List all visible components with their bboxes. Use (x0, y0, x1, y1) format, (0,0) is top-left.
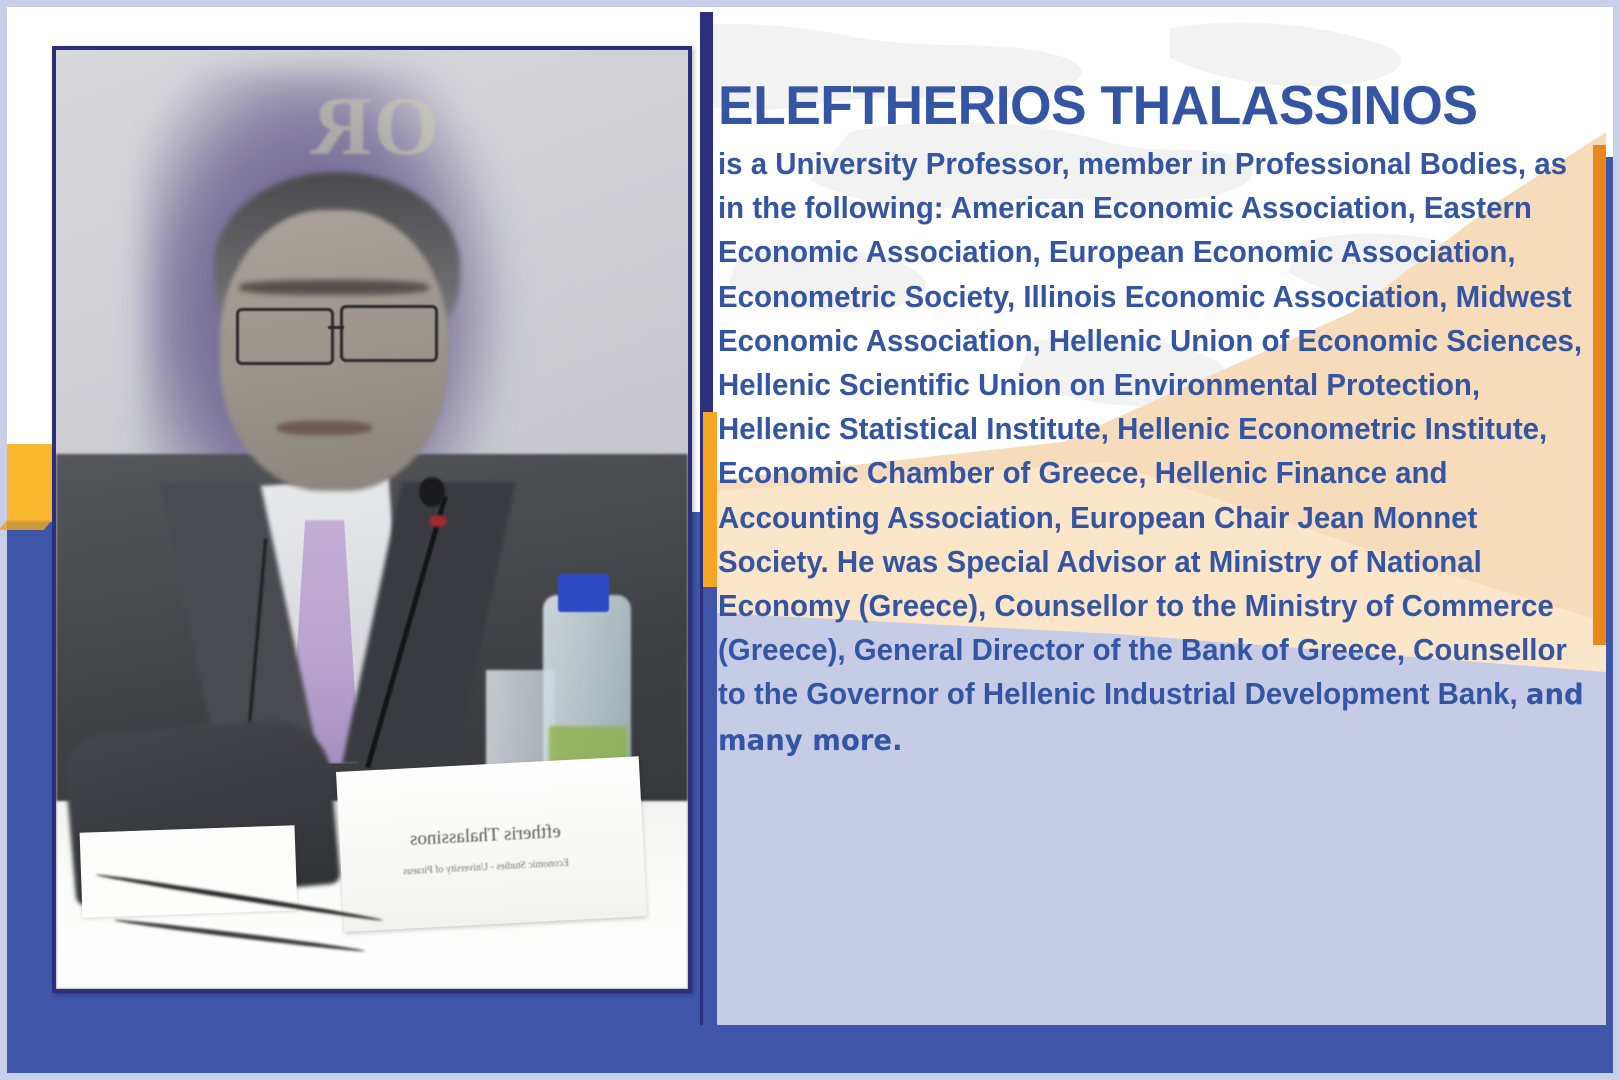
panel-right-orange-accent (1593, 145, 1606, 645)
biography-content: ELEFTHERIOS THALASSINOS is a University … (718, 12, 1590, 763)
speaker-photo: OR eftheris Thalassin (52, 46, 692, 993)
profile-bio-text: is a University Professor, member in Pro… (718, 136, 1585, 763)
photo-image: OR eftheris Thalassin (56, 50, 688, 989)
slide-canvas: OR eftheris Thalassin (0, 0, 1620, 1080)
photo-eyeglasses-right (340, 305, 438, 362)
photo-eyebrows (239, 280, 429, 295)
photo-eyeglasses-bridge (328, 326, 344, 329)
profile-name-heading: ELEFTHERIOS THALASSINOS (718, 12, 1564, 136)
panel-left-orange-accent (703, 412, 717, 587)
photo-backdrop-text: OR (309, 78, 439, 175)
panel-left-blue-accent-lower (703, 587, 717, 1025)
photo-microphone-indicator (429, 515, 447, 527)
yellow-accent-block (7, 444, 52, 522)
photo-eyeglasses-left (236, 308, 334, 365)
biography-panel: ELEFTHERIOS THALASSINOS is a University … (700, 12, 1606, 1025)
photo-bottle-cap (558, 574, 609, 612)
photo-mouth (277, 421, 372, 435)
profile-bio-main: is a University Professor, member in Pro… (718, 147, 1582, 711)
